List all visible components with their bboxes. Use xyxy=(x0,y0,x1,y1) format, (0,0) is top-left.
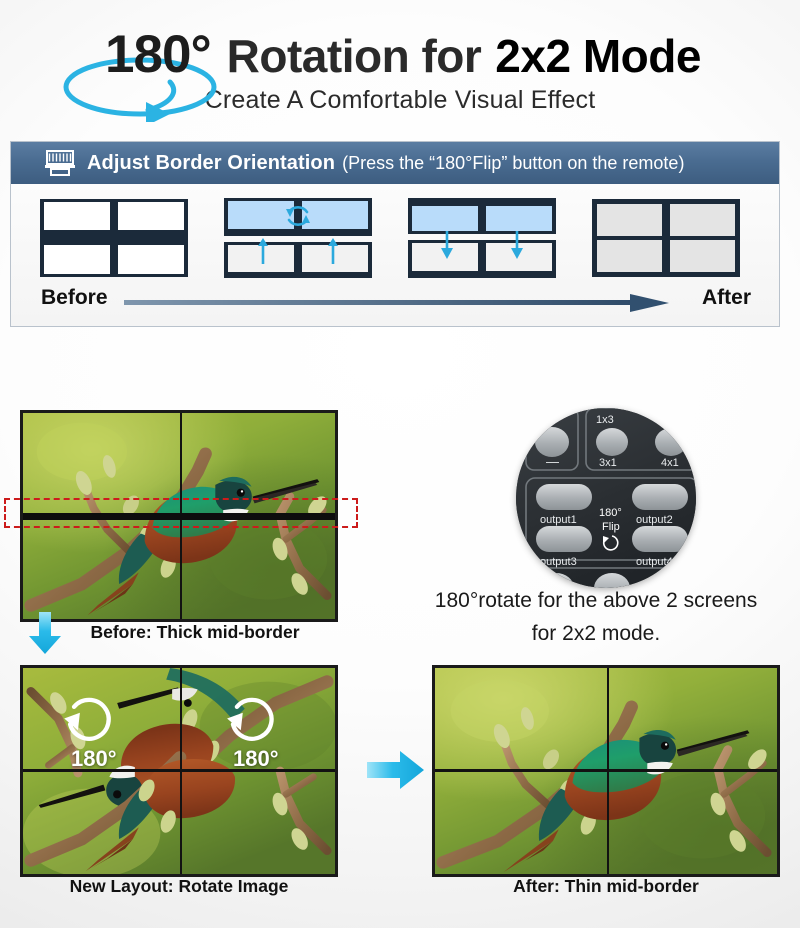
grid-horizontal-thick-line xyxy=(23,513,335,520)
border-orientation-panel: Adjust Border Orientation (Press the “18… xyxy=(10,141,780,327)
svg-text:output3: output3 xyxy=(540,556,577,568)
flow-diagrams xyxy=(11,186,779,284)
title-degrees: 180° xyxy=(99,24,217,85)
banner-note: (Press the “180°Flip” button on the remo… xyxy=(335,153,684,174)
grid-horizontal-line xyxy=(23,769,335,772)
panel-banner: Adjust Border Orientation (Press the “18… xyxy=(11,142,779,184)
svg-text:180°: 180° xyxy=(599,507,622,519)
caption-after: After: Thin mid-border xyxy=(432,876,780,897)
svg-text:output1: output1 xyxy=(540,514,577,526)
right-arrow-icon xyxy=(367,748,425,792)
svg-text:4x1: 4x1 xyxy=(661,457,679,469)
after-label: After xyxy=(702,286,751,310)
photo-after-videowall xyxy=(432,665,780,877)
svg-text:+: + xyxy=(538,413,547,430)
photo-before-videowall xyxy=(20,410,338,622)
step-4-result xyxy=(591,198,741,278)
remote-control-zoom: + — 1x3 3x1 1x4 4x1 output1 output2 outp… xyxy=(516,408,696,588)
remote-control-image: + — 1x3 3x1 1x4 4x1 output1 output2 outp… xyxy=(516,408,696,588)
banner-title: Adjust Border Orientation xyxy=(87,152,335,175)
monitor-icon xyxy=(45,150,75,176)
title-mode: 2x2 Mode xyxy=(481,29,701,83)
svg-text:1x4: 1x4 xyxy=(664,414,682,426)
remote-caption-line2: for 2x2 mode. xyxy=(532,622,660,645)
caption-before: Before: Thick mid-border xyxy=(55,622,335,643)
svg-text:1x3: 1x3 xyxy=(596,414,614,426)
before-label: Before xyxy=(41,286,108,310)
infographic-page: 180°Rotation for2x2 Mode Create A Comfor… xyxy=(0,0,800,928)
step-2-rotate-top xyxy=(223,198,373,278)
page-title: 180°Rotation for2x2 Mode xyxy=(0,24,800,85)
svg-text:—: — xyxy=(546,454,559,469)
svg-text:output2: output2 xyxy=(636,514,673,526)
before-after-arrow-row: Before After xyxy=(11,280,779,318)
step-3-flipped-top xyxy=(407,198,557,278)
page-subtitle: Create A Comfortable Visual Effect xyxy=(0,86,800,115)
title-middle: Rotation for xyxy=(217,29,482,83)
caption-new-layout: New Layout: Rotate Image xyxy=(20,876,338,897)
svg-text:Flip: Flip xyxy=(602,521,620,533)
photo-new-layout-videowall: 180° 180° xyxy=(20,665,338,877)
remote-caption-line1: 180°rotate for the above 2 screens xyxy=(435,589,757,612)
step-1-original xyxy=(39,198,189,278)
remote-caption: 180°rotate for the above 2 screens for 2… xyxy=(400,585,792,650)
grid-horizontal-line xyxy=(435,769,777,772)
progress-arrow-icon xyxy=(124,294,669,312)
svg-text:output4: output4 xyxy=(636,556,673,568)
svg-text:3x1: 3x1 xyxy=(599,457,617,469)
